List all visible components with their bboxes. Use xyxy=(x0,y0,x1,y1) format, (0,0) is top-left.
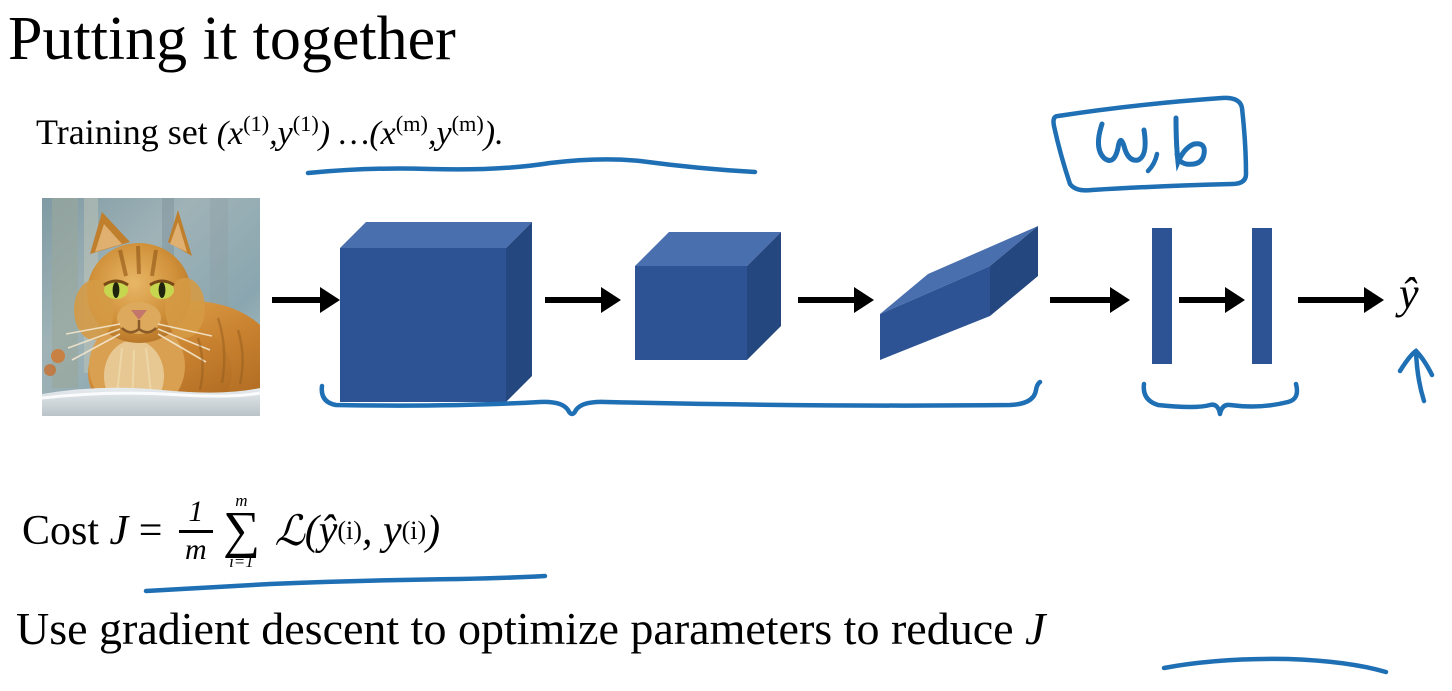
conv-block-large xyxy=(340,222,532,402)
arrow-shaft xyxy=(272,297,322,303)
training-pair-open-m: ( xyxy=(369,115,380,152)
cost-y: y xyxy=(383,507,402,555)
cost-equals: = xyxy=(139,507,163,555)
slide-canvas: Putting it together Training set (x(1),y… xyxy=(0,0,1452,691)
underline-cost-formula xyxy=(140,572,555,598)
training-xm: x xyxy=(381,115,396,152)
conv-block-slab xyxy=(880,226,1038,360)
cost-fraction-denominator: m xyxy=(180,535,212,566)
training-xm-superscript: (m) xyxy=(396,111,428,136)
handwritten-b xyxy=(1176,118,1204,164)
arrow-shaft xyxy=(798,297,856,303)
cost-sum-symbol: ∑ xyxy=(223,509,260,553)
training-y1: y xyxy=(278,115,293,152)
dense-layer-1 xyxy=(1152,228,1172,364)
arrow-dense-2-to-output xyxy=(1298,287,1388,313)
training-x1-superscript: (1) xyxy=(243,111,269,136)
arrow-dense-1-to-dense-2 xyxy=(1179,287,1249,313)
training-x1: x xyxy=(228,115,243,152)
bottom-instruction-text: Use gradient descent to optimize paramet… xyxy=(16,603,1025,654)
arrow-head xyxy=(601,287,621,313)
cost-close-paren: ) xyxy=(426,507,440,555)
training-ellipsis: … xyxy=(339,115,369,152)
cost-yhat-superscript: (i) xyxy=(337,516,362,546)
training-set-line: Training set (x(1),y(1)) …(x(m),y(m)). xyxy=(36,100,504,158)
training-set-label: Training set xyxy=(36,112,208,152)
arrow-shaft xyxy=(1298,297,1366,303)
dense-layer-2 xyxy=(1252,228,1272,364)
training-y1-superscript: (1) xyxy=(293,111,319,136)
cat-photo-graphic xyxy=(42,198,260,416)
training-ym-superscript: (m) xyxy=(452,111,484,136)
training-comma-1: , xyxy=(269,115,278,152)
training-pair-close-1: ) xyxy=(319,115,330,152)
underline-reduce-j xyxy=(1158,652,1393,680)
arrow-shaft xyxy=(1179,297,1227,303)
cost-comma: , xyxy=(362,507,373,555)
cube-front-face xyxy=(635,266,747,360)
training-pair-close-m: ) xyxy=(484,115,495,152)
arrow-to-yhat xyxy=(1390,345,1450,407)
arrow-head xyxy=(854,287,874,313)
cost-yhat: ŷ xyxy=(319,507,338,555)
box-front-face xyxy=(340,248,506,402)
underline-training-set xyxy=(300,155,780,185)
cost-j: J xyxy=(110,507,129,555)
cost-fraction-numerator: 1 xyxy=(183,497,208,528)
arrow-head xyxy=(320,287,340,313)
training-pair-open-1: ( xyxy=(217,115,228,152)
arrow-head xyxy=(1225,287,1245,313)
conv-block-medium xyxy=(635,232,781,360)
arrow-shaft xyxy=(1050,297,1112,303)
cost-formula-line: Cost J = 1 m m ∑ i=1 ℒ(ŷ(i), y(i)) xyxy=(22,492,440,570)
arrow-block-1-to-block-2 xyxy=(545,287,623,313)
arrow-block-2-to-block-3 xyxy=(798,287,876,313)
note-box-outline xyxy=(1054,98,1247,190)
cost-loss-symbol: ℒ xyxy=(274,506,304,556)
cost-sum-lower-limit: i=1 xyxy=(229,553,254,570)
bottom-instruction-j: J xyxy=(1025,603,1045,654)
arrow-block-3-to-dense-1 xyxy=(1050,287,1132,313)
training-ym: y xyxy=(436,115,451,152)
cost-summation: m ∑ i=1 xyxy=(223,492,260,570)
input-cat-image xyxy=(42,198,260,416)
box-side-face xyxy=(506,222,532,402)
training-period: . xyxy=(495,115,504,152)
cost-open-paren: ( xyxy=(305,507,319,555)
cost-fraction: 1 m xyxy=(179,497,213,565)
handwritten-comma xyxy=(1148,154,1157,171)
brace-dense-layers xyxy=(1136,378,1306,422)
cost-label: Cost xyxy=(22,507,99,555)
box-top-face xyxy=(340,222,532,248)
bottom-instruction-line: Use gradient descent to optimize paramet… xyxy=(16,600,1045,658)
arrow-shaft xyxy=(545,297,603,303)
arrow-head xyxy=(1110,287,1130,313)
output-yhat-label: ŷ xyxy=(1399,268,1419,319)
page-title: Putting it together xyxy=(8,2,456,76)
boxed-note-w-b xyxy=(1026,92,1276,198)
cost-y-superscript: (i) xyxy=(402,516,427,546)
handwritten-w xyxy=(1098,124,1145,160)
arrow-head xyxy=(1364,287,1384,313)
arrow-input-to-block-1 xyxy=(272,287,340,313)
